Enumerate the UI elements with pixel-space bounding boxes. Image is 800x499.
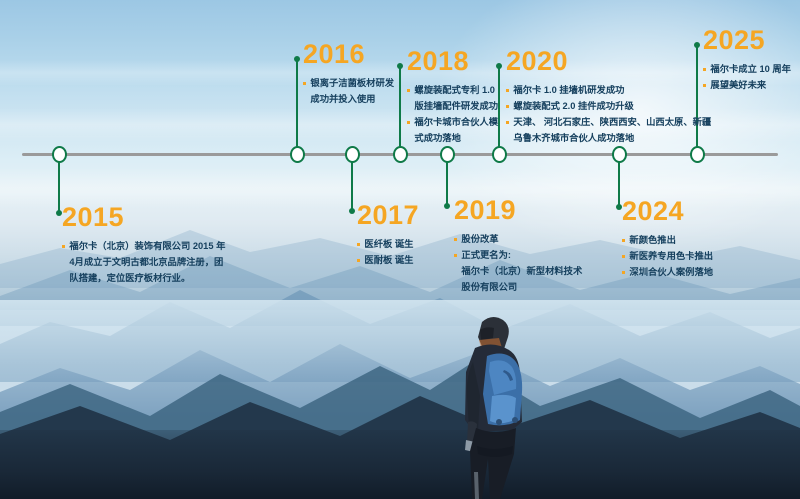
timeline-bullet-text: 天津、 河北石家庄、陕西西安、山西太原、新疆 <box>513 115 711 130</box>
timeline-bullet-continuation: 式成功落地 <box>407 131 498 146</box>
timeline-year-label-2015: 2015 <box>62 204 225 231</box>
timeline-bullet-text: 福尔卡成立 10 周年 <box>710 62 791 77</box>
timeline-bullet-continuation: 成功并投入使用 <box>303 92 394 107</box>
timeline-bullet-text: 新医养专用色卡推出 <box>629 249 713 264</box>
timeline-year-label-2018: 2018 <box>407 48 498 75</box>
timeline-bullet-continuation: 版挂墙配件研发成功 <box>407 99 498 114</box>
timeline-bullet-text: 螺旋装配式 2.0 挂件成功升级 <box>513 99 633 114</box>
timeline-bullet-continuation: 4月成立于文明古都北京品牌注册，团 <box>62 255 225 270</box>
timeline-stem-tip-2016 <box>294 56 300 62</box>
timeline-bullet-list-2015: 福尔卡（北京）装饰有限公司 2015 年4月成立于文明古都北京品牌注册，团队搭建… <box>62 239 225 286</box>
timeline-bullet-text: 正式更名为: <box>461 248 511 263</box>
timeline-entry-2020[interactable]: 2020福尔卡 1.0 挂墙机研发成功螺旋装配式 2.0 挂件成功升级天津、 河… <box>506 48 711 147</box>
bullet-dot-icon <box>454 286 457 289</box>
bullet-dot-icon <box>622 271 625 274</box>
timeline-stem-2018 <box>399 66 401 154</box>
timeline-bullet-text: 股份有限公司 <box>461 280 517 295</box>
timeline-year-label-2025: 2025 <box>703 27 791 54</box>
hiker-figure <box>430 300 550 499</box>
bullet-dot-icon <box>622 239 625 242</box>
bullet-dot-icon <box>62 245 65 248</box>
timeline-bullet-item: 医纤板 诞生 <box>357 237 419 252</box>
timeline-bullet-text: 深圳合伙人案例落地 <box>629 265 713 280</box>
timeline-infographic: 2015福尔卡（北京）装饰有限公司 2015 年4月成立于文明古都北京品牌注册，… <box>0 0 800 499</box>
bullet-dot-icon <box>506 137 509 140</box>
timeline-bullet-text: 乌鲁木齐城市合伙人成功落地 <box>513 131 634 146</box>
timeline-bullet-item: 螺旋装配式专利 1.0 <box>407 83 498 98</box>
timeline-bullet-item: 福尔卡城市合伙人模 <box>407 115 498 130</box>
timeline-bullet-continuation: 福尔卡（北京）新型材料技术 <box>454 264 582 279</box>
timeline-bullet-text: 福尔卡（北京）新型材料技术 <box>461 264 582 279</box>
bullet-dot-icon <box>303 82 306 85</box>
bullet-dot-icon <box>407 137 410 140</box>
timeline-year-label-2019: 2019 <box>454 197 582 224</box>
timeline-bullet-item: 展望美好未来 <box>703 78 791 93</box>
timeline-bullet-item: 福尔卡成立 10 周年 <box>703 62 791 77</box>
timeline-node-2016[interactable] <box>290 146 305 163</box>
timeline-stem-tip-2019 <box>444 203 450 209</box>
bullet-dot-icon <box>454 254 457 257</box>
timeline-bullet-text: 队搭建，定位医疗板材行业。 <box>69 271 190 286</box>
timeline-year-label-2024: 2024 <box>622 198 713 225</box>
timeline-bullet-list-2020: 福尔卡 1.0 挂墙机研发成功螺旋装配式 2.0 挂件成功升级天津、 河北石家庄… <box>506 83 711 146</box>
bullet-dot-icon <box>454 270 457 273</box>
timeline-bullet-continuation: 股份有限公司 <box>454 280 582 295</box>
timeline-bullet-text: 式成功落地 <box>414 131 461 146</box>
timeline-node-2017[interactable] <box>345 146 360 163</box>
timeline-bullet-text: 螺旋装配式专利 1.0 <box>414 83 495 98</box>
timeline-bullet-list-2024: 新颜色推出新医养专用色卡推出深圳合伙人案例落地 <box>622 233 713 280</box>
bullet-dot-icon <box>454 238 457 241</box>
timeline-bullet-text: 展望美好未来 <box>710 78 766 93</box>
timeline-bullet-text: 医纤板 诞生 <box>364 237 413 252</box>
timeline-bullet-text: 版挂墙配件研发成功 <box>414 99 498 114</box>
timeline-bullet-text: 福尔卡（北京）装饰有限公司 2015 年 <box>69 239 225 254</box>
bullet-dot-icon <box>622 255 625 258</box>
timeline-bullet-item: 深圳合伙人案例落地 <box>622 265 713 280</box>
timeline-bullet-item: 福尔卡 1.0 挂墙机研发成功 <box>506 83 711 98</box>
bullet-dot-icon <box>506 105 509 108</box>
timeline-year-label-2020: 2020 <box>506 48 711 75</box>
timeline-bullet-text: 4月成立于文明古都北京品牌注册，团 <box>69 255 223 270</box>
timeline-bullet-text: 成功并投入使用 <box>310 92 375 107</box>
timeline-bullet-list-2016: 银离子洁菌板材研发成功并投入使用 <box>303 76 394 107</box>
timeline-stem-2016 <box>296 59 298 154</box>
timeline-node-2019[interactable] <box>440 146 455 163</box>
bullet-dot-icon <box>703 84 706 87</box>
timeline-year-label-2016: 2016 <box>303 41 394 68</box>
timeline-bullet-list-2018: 螺旋装配式专利 1.0版挂墙配件研发成功福尔卡城市合伙人模式成功落地 <box>407 83 498 146</box>
foreground-shadow <box>0 430 800 499</box>
timeline-bullet-list-2019: 股份改革正式更名为:福尔卡（北京）新型材料技术股份有限公司 <box>454 232 582 295</box>
timeline-stem-tip-2018 <box>397 63 403 69</box>
timeline-bullet-list-2017: 医纤板 诞生医耐板 诞生 <box>357 237 419 268</box>
timeline-bullet-text: 银离子洁菌板材研发 <box>310 76 394 91</box>
timeline-bullet-item: 福尔卡（北京）装饰有限公司 2015 年 <box>62 239 225 254</box>
timeline-entry-2019[interactable]: 2019股份改革正式更名为:福尔卡（北京）新型材料技术股份有限公司 <box>454 197 582 296</box>
timeline-entry-2015[interactable]: 2015福尔卡（北京）装饰有限公司 2015 年4月成立于文明古都北京品牌注册，… <box>62 204 225 287</box>
timeline-entry-2025[interactable]: 2025福尔卡成立 10 周年展望美好未来 <box>703 27 791 94</box>
timeline-bullet-continuation: 队搭建，定位医疗板材行业。 <box>62 271 225 286</box>
timeline-node-2018[interactable] <box>393 146 408 163</box>
timeline-bullet-item: 新颜色推出 <box>622 233 713 248</box>
timeline-bullet-item: 新医养专用色卡推出 <box>622 249 713 264</box>
timeline-entry-2024[interactable]: 2024新颜色推出新医养专用色卡推出深圳合伙人案例落地 <box>622 198 713 281</box>
timeline-bullet-text: 福尔卡城市合伙人模 <box>414 115 498 130</box>
timeline-node-2020[interactable] <box>492 146 507 163</box>
timeline-entry-2017[interactable]: 2017医纤板 诞生医耐板 诞生 <box>357 202 419 269</box>
timeline-bullet-text: 新颜色推出 <box>629 233 676 248</box>
bullet-dot-icon <box>506 89 509 92</box>
timeline-node-2015[interactable] <box>52 146 67 163</box>
bullet-dot-icon <box>407 105 410 108</box>
timeline-bullet-item: 天津、 河北石家庄、陕西西安、山西太原、新疆 <box>506 115 711 130</box>
bullet-dot-icon <box>703 68 706 71</box>
timeline-bullet-text: 医耐板 诞生 <box>364 253 413 268</box>
bullet-dot-icon <box>357 243 360 246</box>
timeline-entry-2016[interactable]: 2016银离子洁菌板材研发成功并投入使用 <box>303 41 394 108</box>
timeline-node-2024[interactable] <box>612 146 627 163</box>
timeline-bullet-list-2025: 福尔卡成立 10 周年展望美好未来 <box>703 62 791 93</box>
timeline-bullet-continuation: 乌鲁木齐城市合伙人成功落地 <box>506 131 711 146</box>
timeline-bullet-item: 正式更名为: <box>454 248 582 263</box>
bullet-dot-icon <box>62 261 65 264</box>
timeline-bullet-item: 股份改革 <box>454 232 582 247</box>
timeline-bullet-item: 医耐板 诞生 <box>357 253 419 268</box>
timeline-stem-tip-2017 <box>349 208 355 214</box>
timeline-bullet-item: 螺旋装配式 2.0 挂件成功升级 <box>506 99 711 114</box>
timeline-entry-2018[interactable]: 2018螺旋装配式专利 1.0版挂墙配件研发成功福尔卡城市合伙人模式成功落地 <box>407 48 498 147</box>
bullet-dot-icon <box>407 89 410 92</box>
timeline-bullet-item: 银离子洁菌板材研发 <box>303 76 394 91</box>
timeline-node-2025[interactable] <box>690 146 705 163</box>
timeline-stem-2020 <box>498 66 500 154</box>
bullet-dot-icon <box>357 259 360 262</box>
bullet-dot-icon <box>407 121 410 124</box>
bullet-dot-icon <box>303 98 306 101</box>
timeline-year-label-2017: 2017 <box>357 202 419 229</box>
timeline-bullet-text: 股份改革 <box>461 232 498 247</box>
timeline-bullet-text: 福尔卡 1.0 挂墙机研发成功 <box>513 83 624 98</box>
bullet-dot-icon <box>506 121 509 124</box>
bullet-dot-icon <box>62 277 65 280</box>
